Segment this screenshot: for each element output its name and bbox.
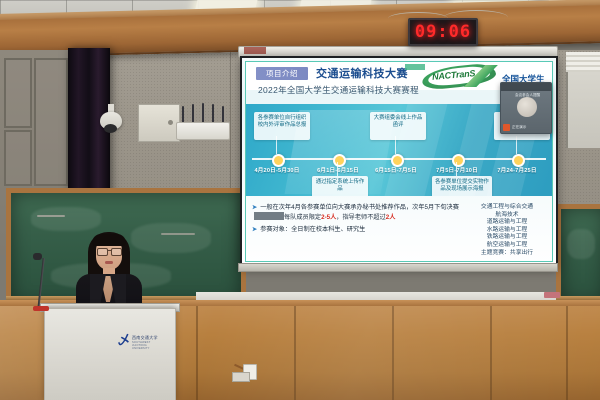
antenna-icon: [192, 104, 194, 124]
window-blind: [566, 52, 600, 72]
signal-jammer-device: [176, 122, 230, 140]
projection-screen-bottom-bar: [238, 263, 558, 272]
overlay-footer: 正在演示: [503, 124, 526, 131]
wall-frame: [4, 58, 32, 128]
overlay-title: 会议参会人提醒: [501, 93, 540, 97]
highlight-value: 2人: [386, 214, 396, 221]
podium: [44, 308, 176, 400]
microphone-icon: [33, 253, 42, 260]
presenter-mouth: [105, 261, 113, 264]
screen-share-icon: [503, 124, 510, 131]
avatar: [517, 97, 537, 117]
overlay-titlebar: 会议参会人提醒: [501, 83, 551, 91]
antenna-icon: [202, 103, 204, 124]
timeline-box-above: 大赛组委会线上作品函评: [370, 112, 426, 140]
clock-time: 09:06: [415, 22, 471, 42]
timeline-date: 6月1日-6月15日: [307, 166, 369, 174]
category-item: 主题竞赛：共享出行: [464, 250, 550, 258]
chalkboard-right: [556, 204, 600, 310]
nactrans-logo: NACTranS 全国大学生: [422, 64, 510, 88]
bullet-item: ➤一般在次年4月各参赛单位向大赛承办秘书处推荐作品，次年5月下旬决赛: [252, 202, 459, 211]
antenna-icon: [212, 104, 214, 124]
classroom-photo: 项目介绍 交通运输科技大赛 2022年全国大学生交通运输科技大赛赛程 NACTr…: [0, 0, 600, 400]
eyeglasses-bridge: [107, 250, 111, 251]
logo-glyph: 乄: [118, 334, 130, 346]
floor-equipment-box: [232, 372, 250, 382]
timeline-date: 7月24-7月25日: [486, 166, 548, 174]
university-name-block: 西南交通大学 SOUTHWEST JIAOTONG UNIVERSITY: [132, 335, 162, 350]
bullet-item: ➤参赛对象：全日制在校本科生、研究生: [252, 224, 365, 233]
timeline-box-above: 各参赛单位自行组织校内外评审作品总报: [254, 112, 310, 140]
meeting-overlay-window[interactable]: 会议参会人提醒 正在演示: [500, 82, 552, 134]
timeline-date: 4月20日-5月30日: [246, 166, 308, 174]
digital-clock: 09:06: [408, 18, 478, 46]
projection-screen: 项目介绍 交通运输科技大赛 2022年全国大学生交通运输科技大赛赛程 NACTr…: [240, 56, 558, 267]
electrical-box-latch: [168, 120, 173, 125]
timeline-date: 7月5日-7月10日: [426, 166, 488, 174]
slide-section-tag: 项目介绍: [256, 67, 308, 80]
electrical-box: [138, 104, 180, 142]
bullet-arrow-icon: ➤: [252, 204, 257, 211]
timeline-date: 6月15日-7月5日: [365, 166, 427, 174]
redaction-bar: [254, 212, 284, 220]
presenter-fringe: [92, 234, 126, 246]
category-item: 航空运输与工程: [464, 242, 550, 250]
timeline-stem: [337, 162, 338, 176]
timeline-box-below: 各参赛单位提交实物作品及现场展示海报: [432, 176, 492, 196]
chalk-eraser: [544, 292, 560, 298]
microphone-base: [33, 306, 49, 311]
slide-subtitle: 2022年全国大学生交通运输科技大赛赛程: [258, 84, 419, 96]
wall-frame: [4, 130, 32, 186]
bullet-arrow-icon: ➤: [252, 226, 257, 233]
category-item: 交通工程与综合交通: [464, 204, 550, 212]
university-name-en: SOUTHWEST JIAOTONG UNIVERSITY: [132, 341, 162, 350]
category-item: 道路运输与工程: [464, 219, 550, 227]
overlay-footer-label: 正在演示: [512, 125, 526, 130]
highlight-value: 2-5人: [321, 214, 336, 221]
camera-lens-icon: [104, 124, 117, 133]
bullet-item: 每队成员限定2-5人，指导老师不超过2人: [284, 212, 395, 221]
category-item: 铁路运输与工程: [464, 234, 550, 242]
timeline-box-below: 通过指定系统上传作品: [312, 176, 368, 196]
category-list: 交通工程与综合交通 航海技术 道路运输与工程 水路运输与工程 铁路运输与工程 航…: [464, 204, 550, 257]
wall-frame: [34, 58, 68, 186]
screen-case-label: [244, 47, 266, 54]
presentation-slide: 项目介绍 交通运输科技大赛 2022年全国大学生交通运输科技大赛赛程 NACTr…: [242, 58, 556, 265]
eyeglasses-icon: [111, 248, 122, 256]
slide-title: 交通运输科技大赛: [316, 65, 408, 81]
university-logo-icon: 乄: [118, 334, 130, 346]
timeline-stem: [456, 162, 457, 176]
